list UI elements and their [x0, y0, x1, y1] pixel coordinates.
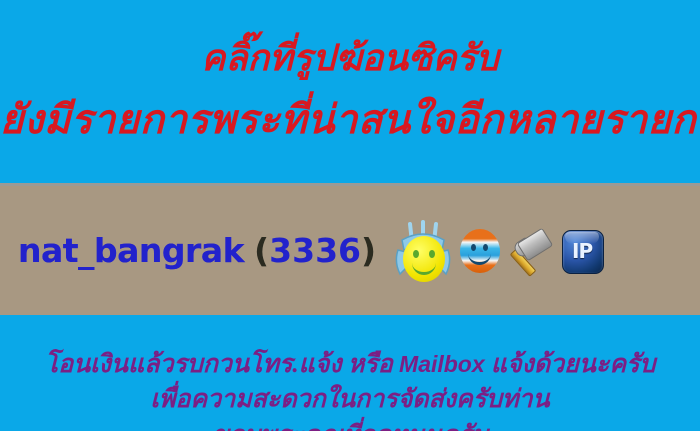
paren-open: ( [254, 231, 269, 270]
paren-close: ) [361, 231, 376, 270]
ip-button-icon[interactable]: IP [560, 227, 606, 275]
orange-blue-smiley-icon[interactable] [460, 229, 500, 273]
seller-username[interactable]: nat_bangrak [18, 234, 244, 267]
footer-line-1-mailbox: Mailbox [399, 351, 485, 377]
crowned-smiley-icon[interactable] [392, 212, 454, 290]
header-section: คลิ๊กที่รูปฆ้อนซิครับ ยังมีรายการพระที่น… [0, 0, 700, 183]
smiley-eye-right [429, 250, 435, 258]
ip-button-label: IP [560, 227, 604, 275]
footer-line-2: เพื่อความสะดวกในการจัดส่งครับท่าน [0, 385, 700, 415]
smiley-mouth [412, 258, 436, 275]
seller-icon-row: IP [392, 212, 606, 290]
headline-line-2: ยังมีรายการพระที่น่าสนใจอีกหลายรายการครั… [0, 96, 700, 144]
footer-line-1-post: แจ้งด้วยนะครับ [485, 351, 656, 378]
orange-smiley-eye-right [483, 244, 488, 251]
seller-feedback-count: (3336) [254, 234, 376, 267]
headline-line-1: คลิ๊กที่รูปฆ้อนซิครับ [0, 36, 700, 80]
footer-section: โอนเงินแล้วรบกวนโทร.แจ้ง หรือ Mailbox แจ… [0, 315, 700, 431]
hammer-icon[interactable] [506, 227, 554, 275]
smiley-eye-left [413, 250, 419, 258]
orange-smiley-eye-left [471, 244, 476, 251]
footer-line-3: ขอบพระคุณที่อุดหนุนครับ [0, 421, 700, 431]
footer-line-1: โอนเงินแล้วรบกวนโทร.แจ้ง หรือ Mailbox แจ… [0, 349, 700, 380]
seller-banner[interactable]: nat_bangrak (3336) [0, 183, 700, 315]
signature-banner-image: คลิ๊กที่รูปฆ้อนซิครับ ยังมีรายการพระที่น… [0, 0, 700, 431]
smiley-face-shape [403, 236, 445, 282]
feedback-count-value: 3336 [269, 231, 361, 270]
seller-banner-content: nat_bangrak (3336) [18, 186, 700, 315]
footer-line-1-pre: โอนเงินแล้วรบกวนโทร.แจ้ง หรือ [45, 351, 399, 378]
